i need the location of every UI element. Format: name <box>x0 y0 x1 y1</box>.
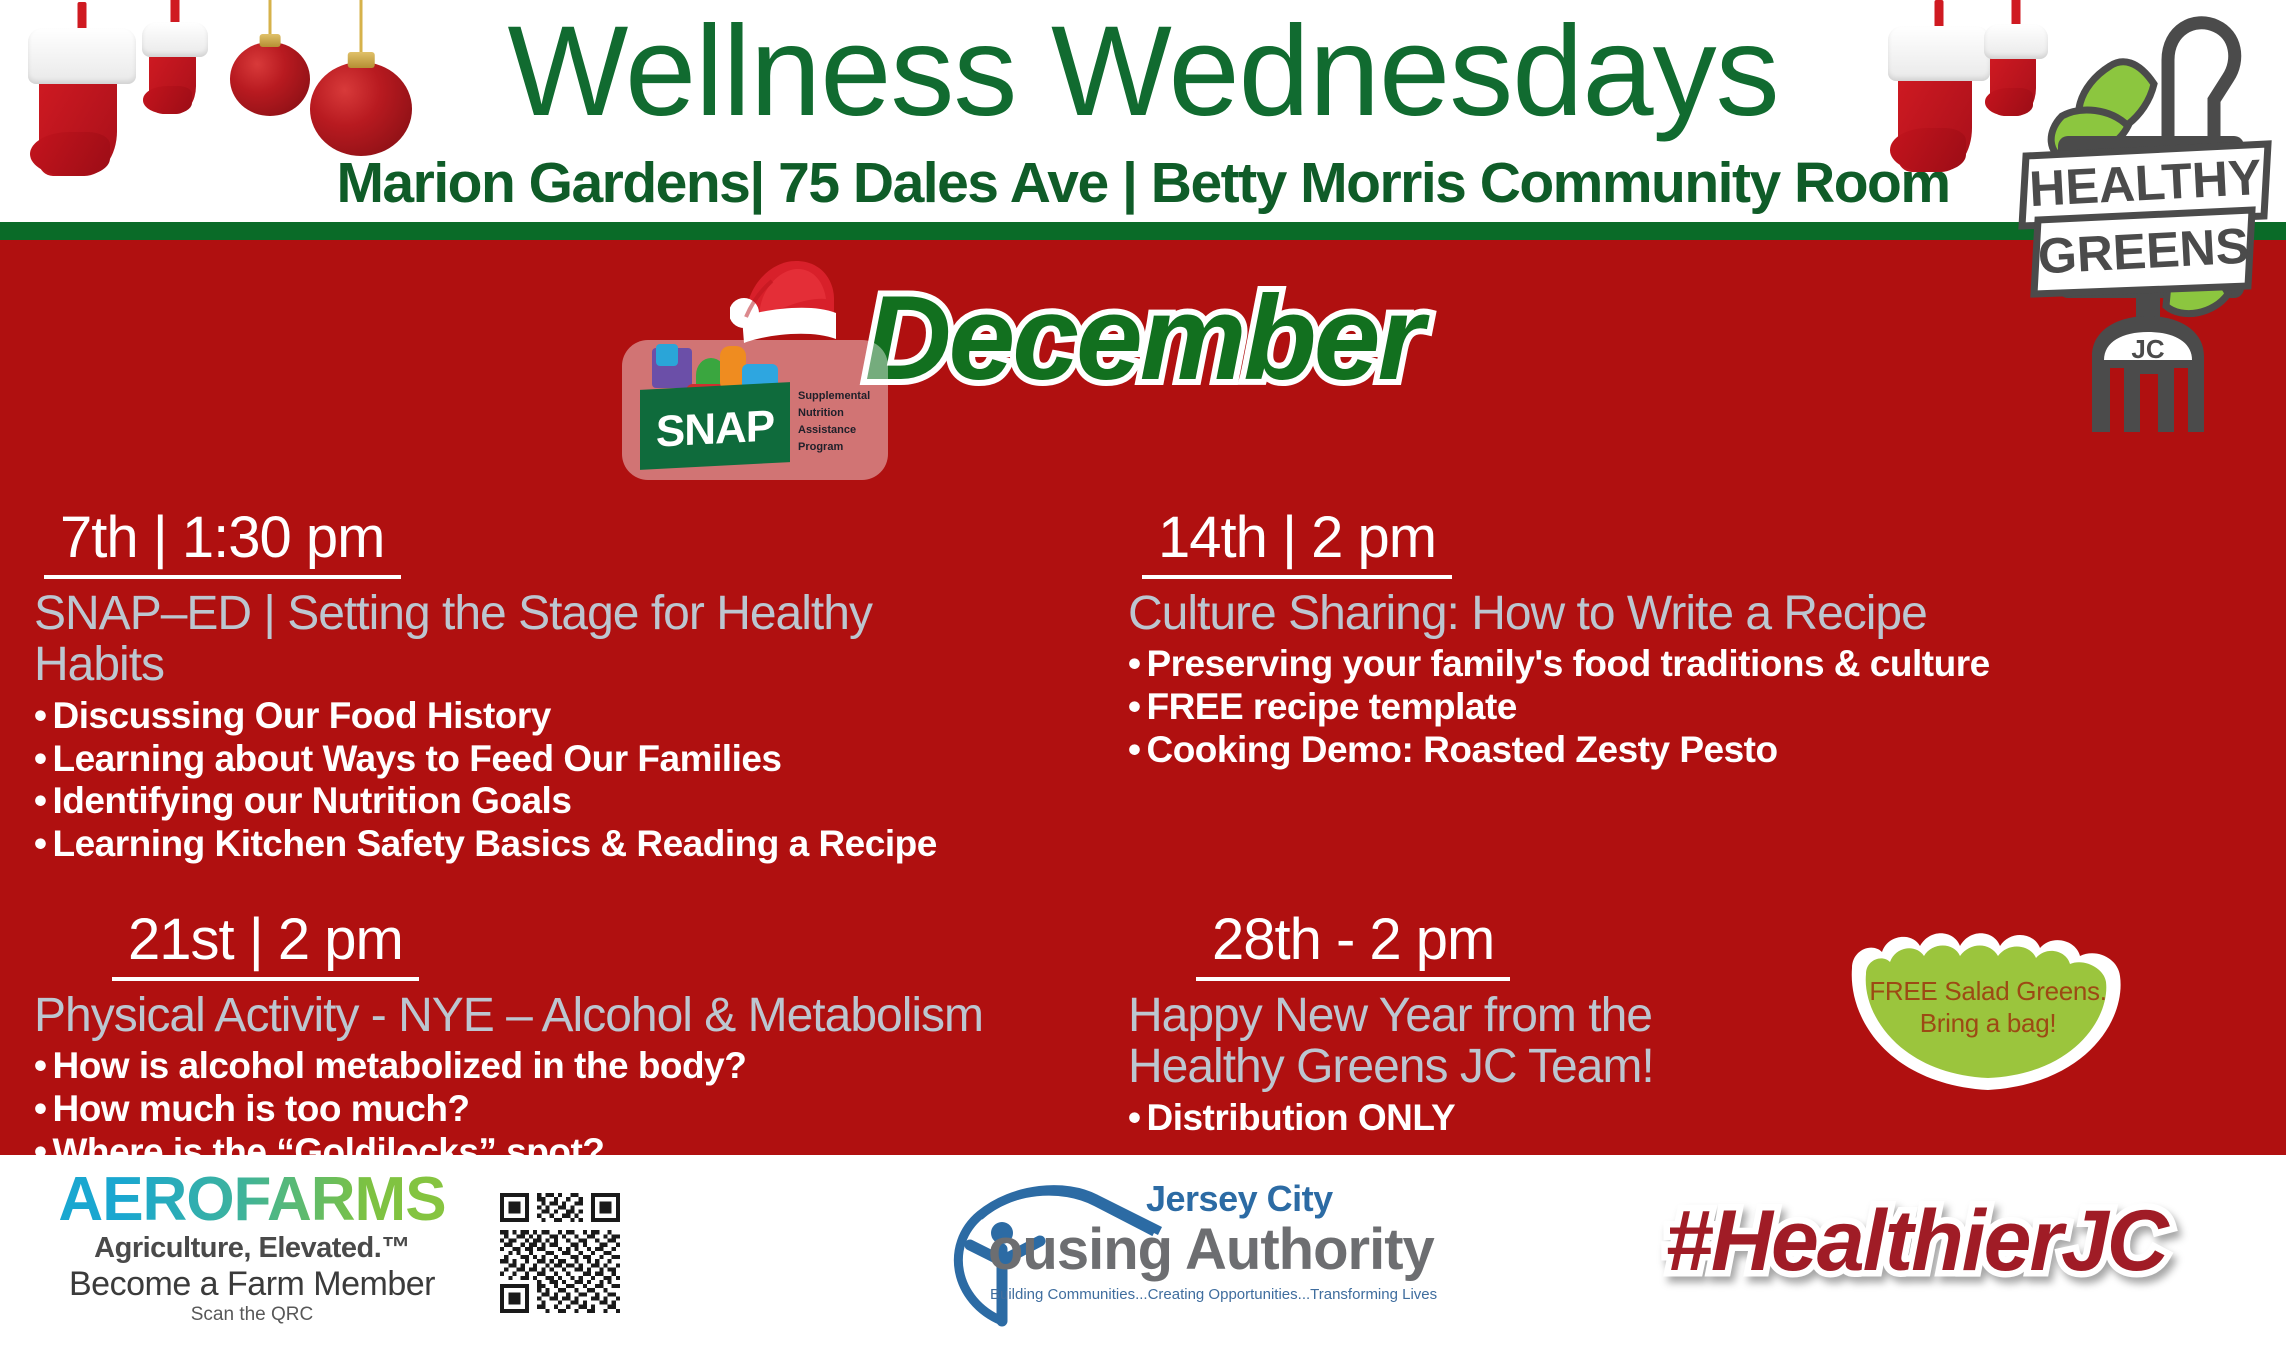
aerofarms-tagline: Agriculture, Elevated.™ <box>22 1233 482 1263</box>
event-date: 28th - 2 pm <box>1196 910 1510 981</box>
snap-logo: SNAP Supplemental Nutrition Assistance P… <box>622 340 888 480</box>
event-block-dec-14: 14th | 2 pm Culture Sharing: How to Writ… <box>1128 508 2128 772</box>
aerofarms-scan-label: Scan the QRC <box>22 1305 482 1325</box>
aerofarms-wordmark: AEROFARMS <box>22 1169 482 1231</box>
snap-acronym: SNAP <box>640 404 790 456</box>
event-block-dec-21: 21st | 2 pm Physical Activity - NYE – Al… <box>34 910 1114 1155</box>
stocking-foot <box>1890 128 1965 172</box>
salad-badge-line2: Bring a bag! <box>1838 1008 2138 1040</box>
list-item: How is alcohol metabolized in the body? <box>34 1045 1114 1088</box>
snap-bag-icon: SNAP <box>640 382 790 470</box>
healthy-greens-jc-mark: JC <box>2131 334 2164 364</box>
list-item: Identifying our Nutrition Goals <box>34 780 894 823</box>
ornament-ball <box>310 62 412 156</box>
list-item: How much is too much? <box>34 1088 1114 1131</box>
list-item: Learning Kitchen Safety Basics & Reading… <box>34 823 894 866</box>
salad-badge-text: FREE Salad Greens. Bring a bag! <box>1838 976 2138 1039</box>
event-date: 21st | 2 pm <box>112 910 419 981</box>
list-item: Discussing Our Food History <box>34 695 894 738</box>
ornament-cap <box>260 34 281 47</box>
stocking-cuff <box>1888 26 1990 81</box>
qr-code-icon[interactable] <box>500 1193 620 1313</box>
salad-badge-line1: FREE Salad Greens. <box>1838 976 2138 1008</box>
events-panel: December SNAP Supplemental Nutrition Ass… <box>0 240 2286 1155</box>
healthy-greens-line2: GREENS <box>2037 218 2251 285</box>
snap-expansion-line2: Nutrition <box>798 405 884 422</box>
healthy-greens-logo: JC HEALTHY GREENS <box>2018 8 2280 438</box>
list-item: FREE recipe template <box>1128 686 2128 729</box>
list-item: Where is the “Goldilocks” spot? <box>34 1131 1114 1155</box>
event-date: 14th | 2 pm <box>1142 508 1452 579</box>
list-item: Learning about Ways to Feed Our Families <box>34 738 894 781</box>
event-bullet-list: Discussing Our Food History Learning abo… <box>34 695 894 867</box>
event-subtitle: Happy New Year from the Healthy Greens J… <box>1128 990 1748 1093</box>
stocking-foot <box>30 132 110 176</box>
ornament-ball <box>230 42 310 116</box>
month-label: December <box>865 278 1421 398</box>
event-bullet-list: Preserving your family's food traditions… <box>1128 643 2128 772</box>
list-item: Preserving your family's food traditions… <box>1128 643 2128 686</box>
flyer-header: Wellness Wednesdays Marion Gardens| 75 D… <box>0 0 2286 222</box>
stocking-cuff <box>142 22 208 57</box>
flyer-footer: AEROFARMS Agriculture, Elevated.™ Become… <box>0 1155 2286 1352</box>
jcha-tagline: Building Communities...Creating Opportun… <box>990 1287 1437 1302</box>
jersey-city-housing-authority-logo: Jersey City ousing Authority Building Co… <box>910 1171 1410 1341</box>
event-bullet-list: How is alcohol metabolized in the body? … <box>34 1045 1114 1155</box>
event-block-dec-7: 7th | 1:30 pm SNAP–ED | Setting the Stag… <box>34 508 894 866</box>
free-salad-greens-badge: FREE Salad Greens. Bring a bag! <box>1838 898 2138 1108</box>
event-date: 7th | 1:30 pm <box>44 508 401 579</box>
snap-expansion: Supplemental Nutrition Assistance Progra… <box>798 388 884 456</box>
month-banner: December <box>0 278 2286 398</box>
aerofarms-logo: AEROFARMS Agriculture, Elevated.™ Become… <box>22 1169 482 1325</box>
stocking-foot <box>143 86 192 114</box>
ornament-cap <box>348 52 375 68</box>
green-divider-bar <box>0 222 2286 240</box>
jcha-city-label: Jersey City <box>1146 1181 1333 1217</box>
aerofarms-cta: Become a Farm Member <box>22 1267 482 1303</box>
snap-expansion-line1: Supplemental <box>798 388 884 405</box>
stocking-cuff <box>28 28 136 84</box>
healthierjc-logo: #HealthierJC <box>1636 1183 2196 1313</box>
wellness-wednesdays-flyer: Wellness Wednesdays Marion Gardens| 75 D… <box>0 0 2286 1352</box>
santa-hat-icon <box>730 255 840 351</box>
event-subtitle: SNAP–ED | Setting the Stage for Healthy … <box>34 588 894 691</box>
snap-food-can-icon <box>656 344 678 366</box>
snap-expansion-line4: Program <box>798 439 884 456</box>
snap-expansion-line3: Assistance <box>798 422 884 439</box>
event-subtitle: Culture Sharing: How to Write a Recipe <box>1128 588 2128 639</box>
list-item: Cooking Demo: Roasted Zesty Pesto <box>1128 729 2128 772</box>
event-subtitle: Physical Activity - NYE – Alcohol & Meta… <box>34 990 1114 1041</box>
jcha-authority-label: ousing Authority <box>988 1221 1434 1279</box>
healthierjc-hashtag: #HealthierJC <box>1636 1183 2196 1299</box>
